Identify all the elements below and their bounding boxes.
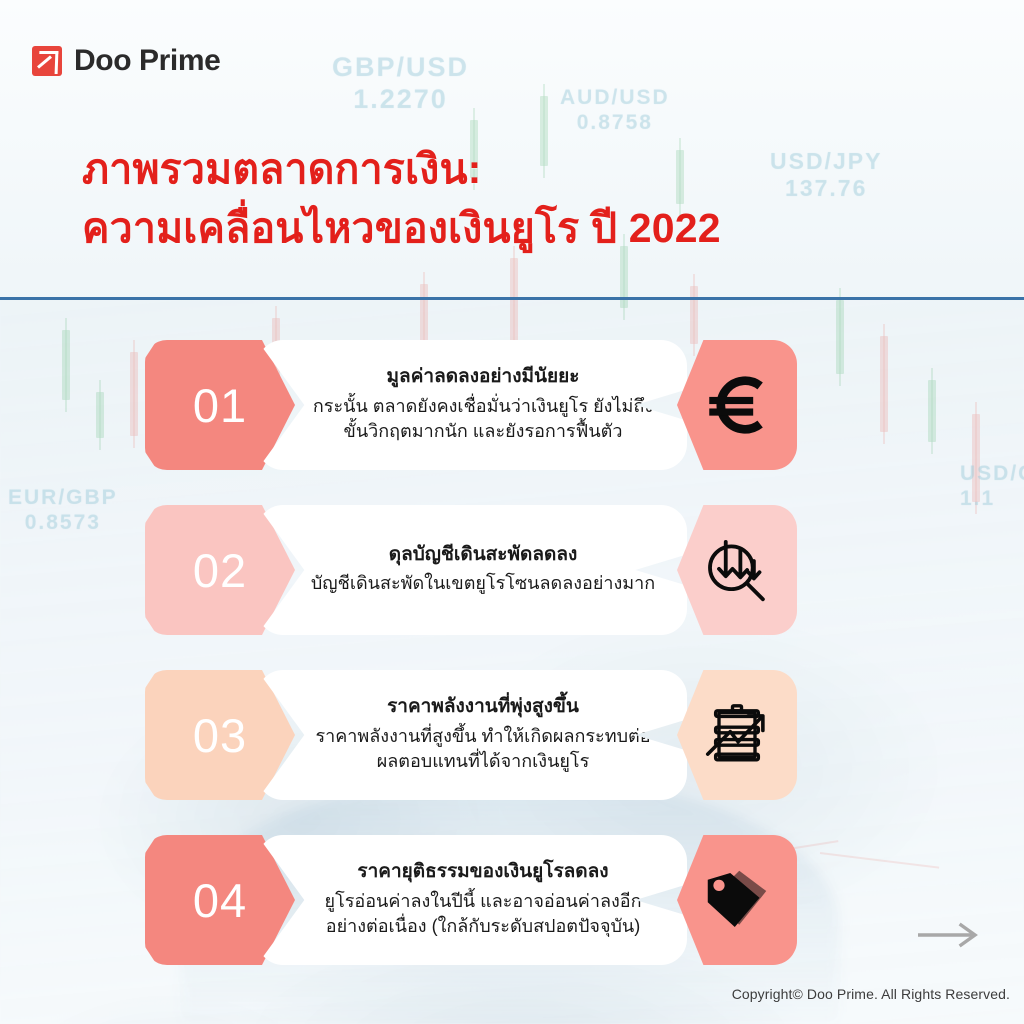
card-body-line-1: ราคาพลังงานที่สูงขึ้น ทำให้เกิดผลกระทบต่… xyxy=(315,724,650,750)
infographic-poster: GBP/USD 1.2270 AUD/USD 0.8758 USD/JPY 13… xyxy=(0,0,1024,1024)
oil-barrel-rising-arrow-icon xyxy=(701,699,773,771)
list-item: 03 ราคาพลังงานที่พุ่งสูงขึ้น ราคาพลังงาน… xyxy=(0,670,1024,800)
card-title: ดุลบัญชีเดินสะพัดลดลง xyxy=(389,541,578,570)
quote-price: 137.76 xyxy=(770,175,882,202)
quote-pair: AUD/USD xyxy=(560,86,670,111)
list-item: 01 มูลค่าลดลงอย่างมีนัยยะ กระนั้น ตลาดยั… xyxy=(0,340,1024,470)
card-body-line-2: ขั้นวิกฤตมากนัก และยังรอการฟื้นตัว xyxy=(344,419,623,445)
brand-logo: Doo Prime xyxy=(32,44,220,78)
watermark-quote-usdjpy: USD/JPY 137.76 xyxy=(770,148,882,202)
card-number: 01 xyxy=(193,378,247,433)
card-number: 03 xyxy=(193,708,247,763)
title-line-1: ภาพรวมตลาดการเงิน: xyxy=(82,146,482,192)
card-icon-badge xyxy=(677,340,797,470)
card-body-line-1: ยูโรอ่อนค่าลงในปีนี้ และอาจอ่อนค่าลงอีก xyxy=(325,889,642,915)
card-text-panel: มูลค่าลดลงอย่างมีนัยยะ กระนั้น ตลาดยังคง… xyxy=(257,340,687,470)
quote-pair: USD/JPY xyxy=(770,148,882,175)
quote-price: 0.8758 xyxy=(560,111,670,136)
card-number: 04 xyxy=(193,873,247,928)
card-text-panel: ดุลบัญชีเดินสะพัดลดลง บัญชีเดินสะพัดในเข… xyxy=(257,505,687,635)
quote-pair: GBP/USD xyxy=(332,52,469,84)
doo-prime-logo-icon xyxy=(32,46,62,76)
card-body-line-2: อย่างต่อเนื่อง (ใกล้กับระดับสปอตปัจจุบัน… xyxy=(326,914,640,940)
card-body-line-1: กระนั้น ตลาดยังคงเชื่อมั่นว่าเงินยูโร ยั… xyxy=(313,394,653,420)
card-text-panel: ราคาพลังงานที่พุ่งสูงขึ้น ราคาพลังงานที่… xyxy=(257,670,687,800)
quote-price: 1.2270 xyxy=(332,84,469,116)
list-item: 02 ดุลบัญชีเดินสะพัดลดลง บัญชีเดินสะพัดใ… xyxy=(0,505,1024,635)
card-body-line-2: ผลตอบแทนที่ได้จากเงินยูโร xyxy=(377,749,590,775)
card-title: ราคายุติธรรมของเงินยูโรลดลง xyxy=(357,858,608,887)
watermark-quote-audusd: AUD/USD 0.8758 xyxy=(560,86,670,136)
card-icon-badge xyxy=(677,835,797,965)
brand-name: Doo Prime xyxy=(74,44,220,78)
list-item: 04 ราคายุติธรรมของเงินยูโรลดลง ยูโรอ่อนค… xyxy=(0,835,1024,965)
card-icon-badge xyxy=(677,670,797,800)
card-text-panel: ราคายุติธรรมของเงินยูโรลดลง ยูโรอ่อนค่าล… xyxy=(257,835,687,965)
price-tag-icon xyxy=(701,864,773,936)
declining-arrows-magnifier-icon xyxy=(701,534,773,606)
card-list: 01 มูลค่าลดลงอย่างมีนัยยะ กระนั้น ตลาดยั… xyxy=(0,340,1024,1000)
card-title: ราคาพลังงานที่พุ่งสูงขึ้น xyxy=(387,693,579,722)
card-title: มูลค่าลดลงอย่างมีนัยยะ xyxy=(387,363,580,392)
page-title: ภาพรวมตลาดการเงิน: ความเคลื่อนไหวของเงิน… xyxy=(82,140,721,259)
header-divider xyxy=(0,297,1024,300)
euro-sign-icon xyxy=(700,368,774,442)
card-icon-badge xyxy=(677,505,797,635)
copyright-text: Copyright© Doo Prime. All Rights Reserve… xyxy=(732,986,1010,1002)
card-number: 02 xyxy=(193,543,247,598)
card-body-line-1: บัญชีเดินสะพัดในเขตยูโรโซนลดลงอย่างมาก xyxy=(311,571,655,597)
watermark-quote-gbpusd: GBP/USD 1.2270 xyxy=(332,52,469,116)
title-line-2: ความเคลื่อนไหวของเงินยูโร ปี 2022 xyxy=(82,199,721,258)
arrow-right-icon[interactable] xyxy=(916,922,982,948)
